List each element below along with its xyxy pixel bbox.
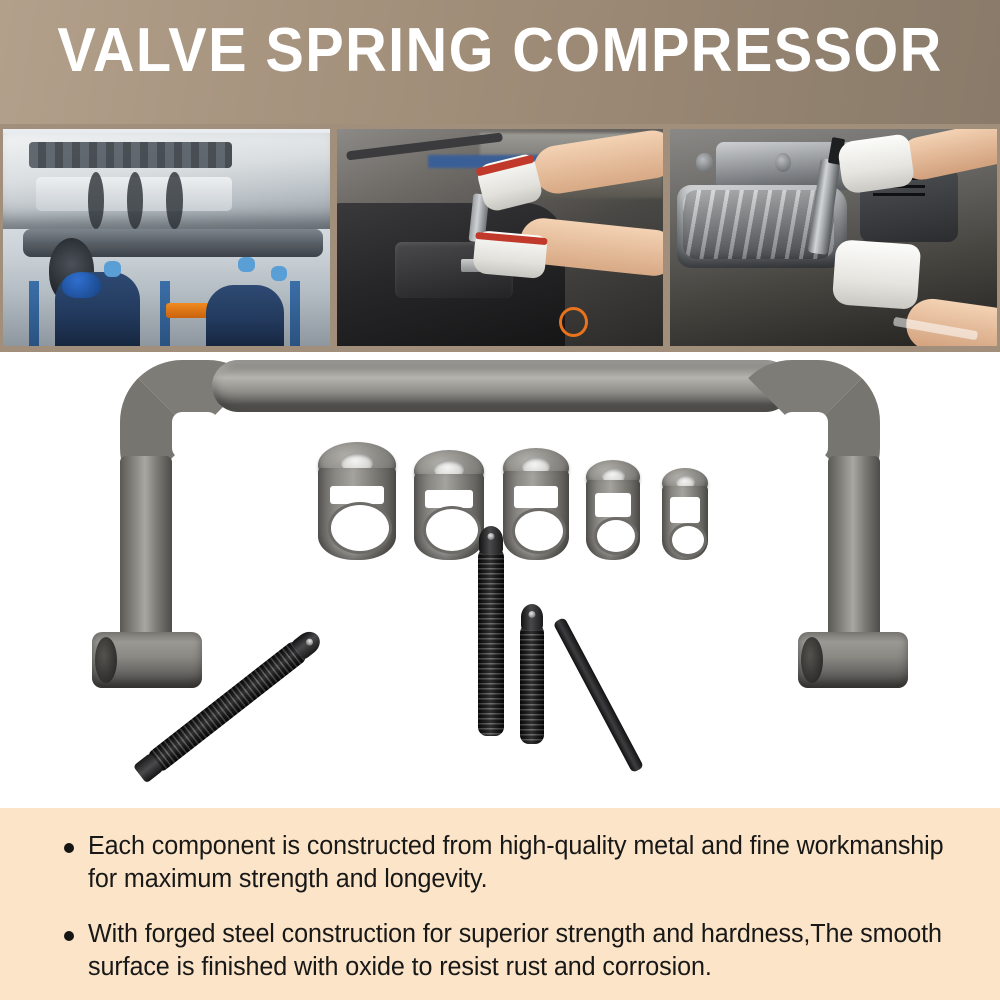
c-bar-foot-right bbox=[798, 632, 908, 688]
photo3-white-glove-lower bbox=[832, 239, 921, 310]
product-marketing-image: VALVE SPRING COMPRESSOR bbox=[0, 0, 1000, 1000]
screw-long-vertical-head bbox=[479, 526, 503, 554]
c-bar-leg-left bbox=[120, 456, 172, 648]
feature-list-item: Each component is constructed from high-… bbox=[42, 830, 958, 896]
adapter-1 bbox=[318, 442, 396, 560]
adapter-1-inner-bore bbox=[328, 502, 392, 554]
valve-spring-compressor-tool-set bbox=[0, 352, 1000, 808]
photo1-blue-glove bbox=[104, 261, 120, 276]
screw-long-vertical bbox=[478, 548, 504, 736]
photo1-blue-cap bbox=[62, 272, 101, 298]
adapter-3-inner-bore bbox=[512, 508, 566, 554]
photo1-lift-post-right bbox=[290, 281, 300, 346]
screw-long-diagonal-tip bbox=[133, 753, 164, 784]
adapter-3-window-upper bbox=[514, 486, 558, 508]
photo-mechanics-under-lifted-car bbox=[3, 129, 330, 346]
adapter-5-window-upper bbox=[670, 497, 700, 523]
feature-text-2: With forged steel construction for super… bbox=[88, 918, 945, 984]
features-panel: Each component is constructed from high-… bbox=[0, 808, 1000, 1000]
c-bar-foot-bore-left bbox=[95, 637, 117, 683]
product-image-area bbox=[0, 352, 1000, 808]
photo3-oil-cap bbox=[696, 153, 712, 173]
photo1-blue-glove bbox=[271, 266, 287, 281]
adapter-5-inner-bore bbox=[669, 523, 707, 557]
feature-text-1: Each component is constructed from high-… bbox=[88, 830, 945, 896]
adapter-4 bbox=[586, 460, 640, 560]
photo-gloved-hands-engine-bay bbox=[337, 129, 664, 346]
photo-gloved-hands-intake-manifold bbox=[670, 129, 997, 346]
adapter-3 bbox=[503, 448, 569, 560]
c-bar-top-span bbox=[212, 360, 792, 412]
photo2-white-glove-lower bbox=[472, 230, 547, 279]
bullet-icon bbox=[64, 931, 74, 941]
page-title: VALVE SPRING COMPRESSOR bbox=[35, 16, 965, 86]
photo1-grille bbox=[29, 142, 232, 168]
adapter-2 bbox=[414, 450, 484, 560]
adapter-4-window-upper bbox=[595, 493, 631, 517]
photo1-worker-right bbox=[206, 285, 284, 346]
photo2-orange-ring bbox=[559, 307, 588, 337]
c-bar-leg-right bbox=[828, 456, 880, 648]
photo1-blue-glove bbox=[238, 257, 254, 272]
photo1-undertray-hole bbox=[88, 172, 104, 228]
bullet-icon bbox=[64, 843, 74, 853]
adapter-set bbox=[318, 430, 718, 560]
screw-short-vertical bbox=[520, 624, 544, 744]
c-bar-foot-bore-right bbox=[801, 637, 823, 683]
c-bar-foot-left bbox=[92, 632, 202, 688]
adapter-4-inner-bore bbox=[594, 517, 638, 555]
screw-short-vertical-ball-detent bbox=[529, 611, 536, 618]
feature-list-item: With forged steel construction for super… bbox=[42, 918, 958, 984]
photo1-lift-post-left bbox=[29, 281, 39, 346]
header-banner: VALVE SPRING COMPRESSOR bbox=[0, 0, 1000, 124]
photo3-white-glove-upper bbox=[837, 133, 915, 195]
photo1-undertray-hole bbox=[166, 172, 182, 228]
photo-strip bbox=[0, 124, 1000, 352]
screw-long-vertical-ball-detent bbox=[488, 533, 495, 540]
adapter-5 bbox=[662, 468, 708, 560]
adapter-2-inner-bore bbox=[423, 506, 481, 554]
